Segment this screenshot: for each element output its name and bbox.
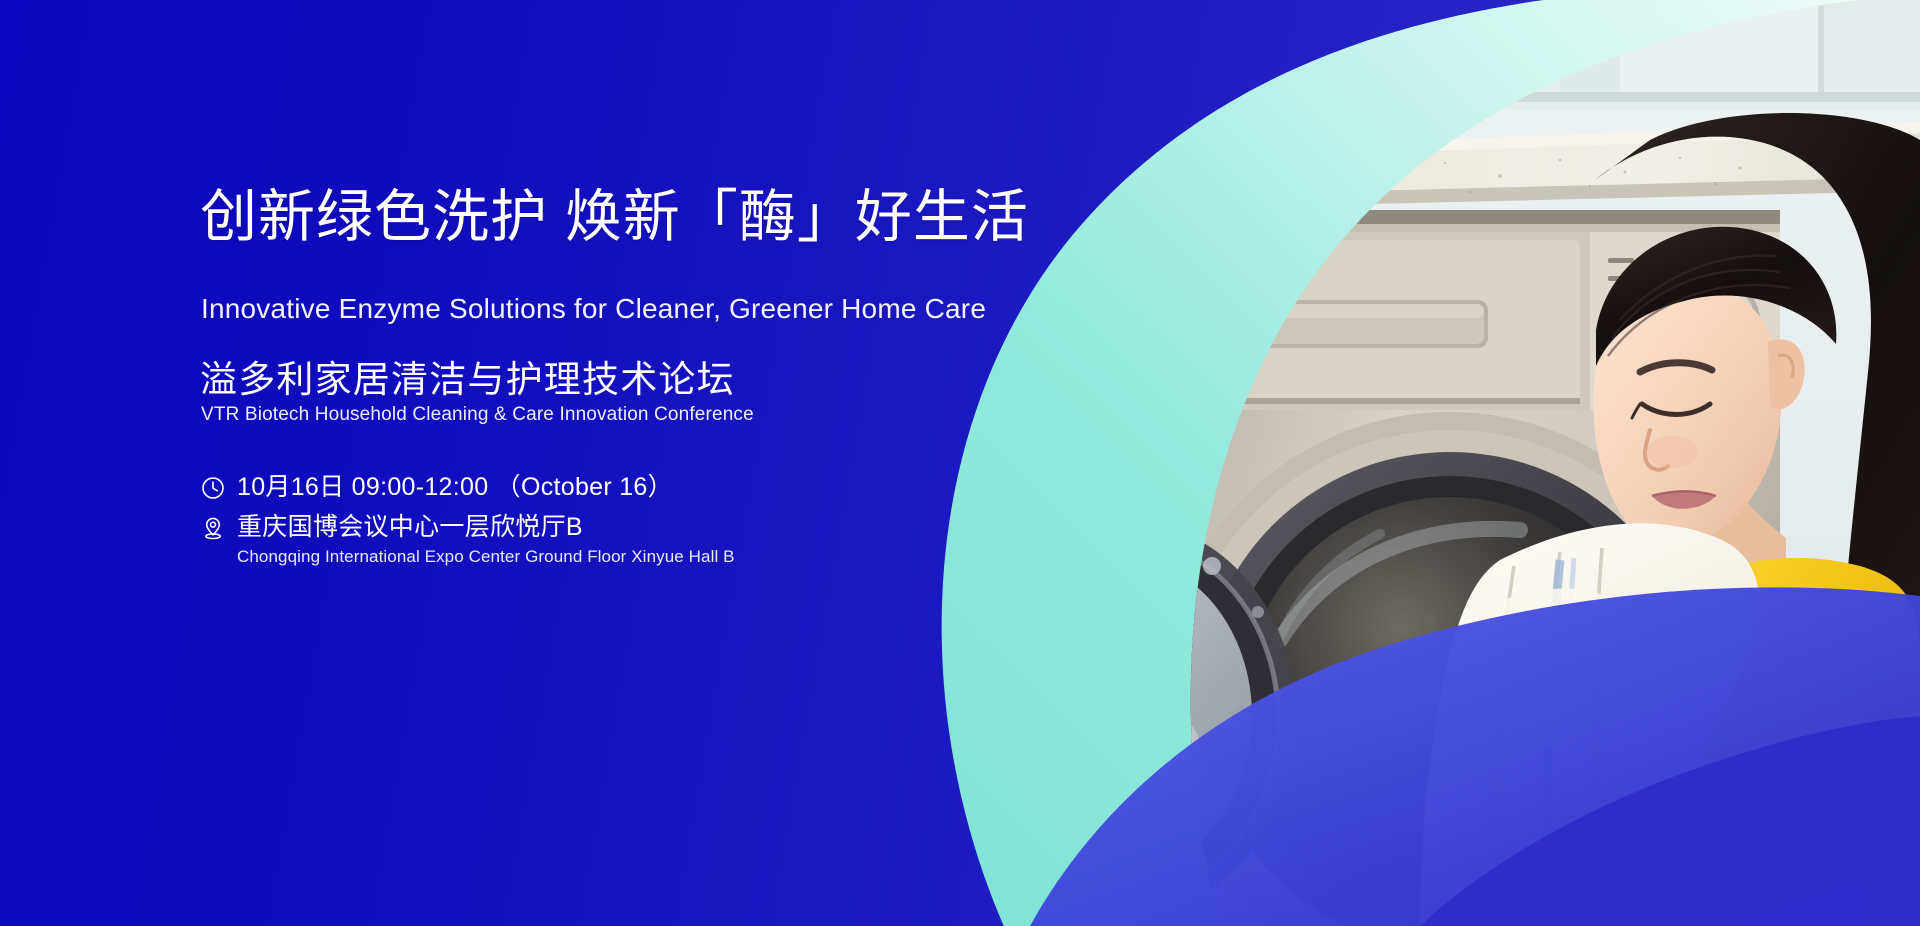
- event-details: 10月16日 09:00-12:00 （October 16） 重庆国博会议中心…: [200, 472, 1040, 579]
- conference-name-english: VTR Biotech Household Cleaning & Care In…: [201, 402, 754, 428]
- page-title: 创新绿色洗护 焕新「酶」好生活: [200, 184, 1029, 250]
- event-venue: 重庆国博会议中心一层欣悦厅B: [237, 513, 583, 541]
- page-title-english: Innovative Enzyme Solutions for Cleaner,…: [201, 292, 986, 326]
- event-venue-english: Chongqing International Expo Center Grou…: [237, 545, 735, 569]
- event-venue-row: 重庆国博会议中心一层欣悦厅B Chongqing International E…: [200, 512, 1040, 569]
- event-datetime: 10月16日 09:00-12:00 （October 16）: [237, 473, 673, 501]
- location-pin-icon: [200, 515, 226, 541]
- conference-banner: 创新绿色洗护 焕新「酶」好生活 Innovative Enzyme Soluti…: [0, 0, 1920, 926]
- banner-content: 创新绿色洗护 焕新「酶」好生活 Innovative Enzyme Soluti…: [200, 0, 1060, 926]
- conference-name: 溢多利家居清洁与护理技术论坛: [200, 357, 735, 403]
- event-datetime-row: 10月16日 09:00-12:00 （October 16）: [200, 472, 1040, 502]
- clock-icon: [200, 475, 226, 501]
